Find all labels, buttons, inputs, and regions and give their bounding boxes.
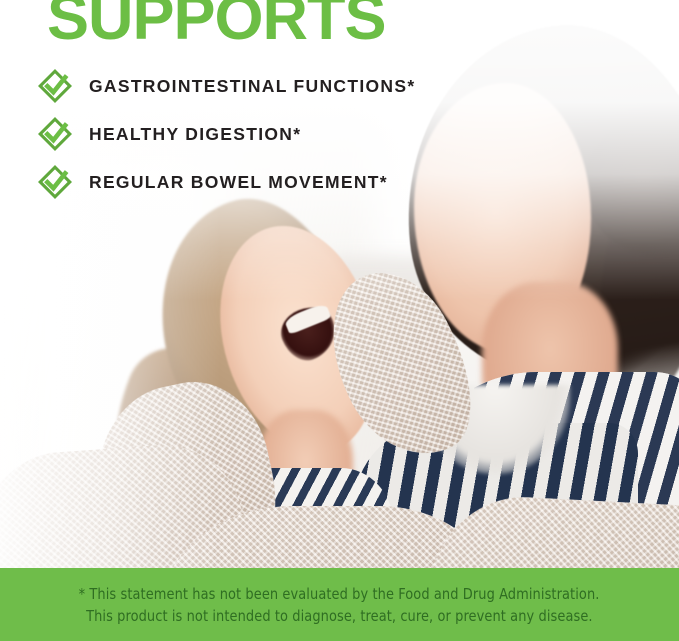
benefit-list: GASTROINTESTINAL FUNCTIONS* HEALTHY DIGE… <box>38 64 415 208</box>
list-item: REGULAR BOWEL MOVEMENT* <box>38 160 415 204</box>
benefit-label: GASTROINTESTINAL FUNCTIONS* <box>89 76 415 97</box>
page-title: SUPPORTS <box>47 0 386 50</box>
list-item: GASTROINTESTINAL FUNCTIONS* <box>38 64 415 108</box>
check-diamond-icon <box>38 165 72 199</box>
benefit-label: HEALTHY DIGESTION* <box>89 124 301 145</box>
list-item: HEALTHY DIGESTION* <box>38 112 415 156</box>
check-diamond-icon <box>38 117 72 151</box>
product-infographic-panel: SUPPORTS GASTROINTESTINAL FUNCTIONS* HEA… <box>0 0 679 641</box>
disclaimer-line-1: * This statement has not been evaluated … <box>79 583 600 605</box>
copy-layer: SUPPORTS GASTROINTESTINAL FUNCTIONS* HEA… <box>0 0 679 641</box>
benefit-label: REGULAR BOWEL MOVEMENT* <box>89 172 388 193</box>
fda-disclaimer-banner: * This statement has not been evaluated … <box>0 568 679 641</box>
disclaimer-line-2: This product is not intended to diagnose… <box>86 605 593 627</box>
check-diamond-icon <box>38 69 72 103</box>
